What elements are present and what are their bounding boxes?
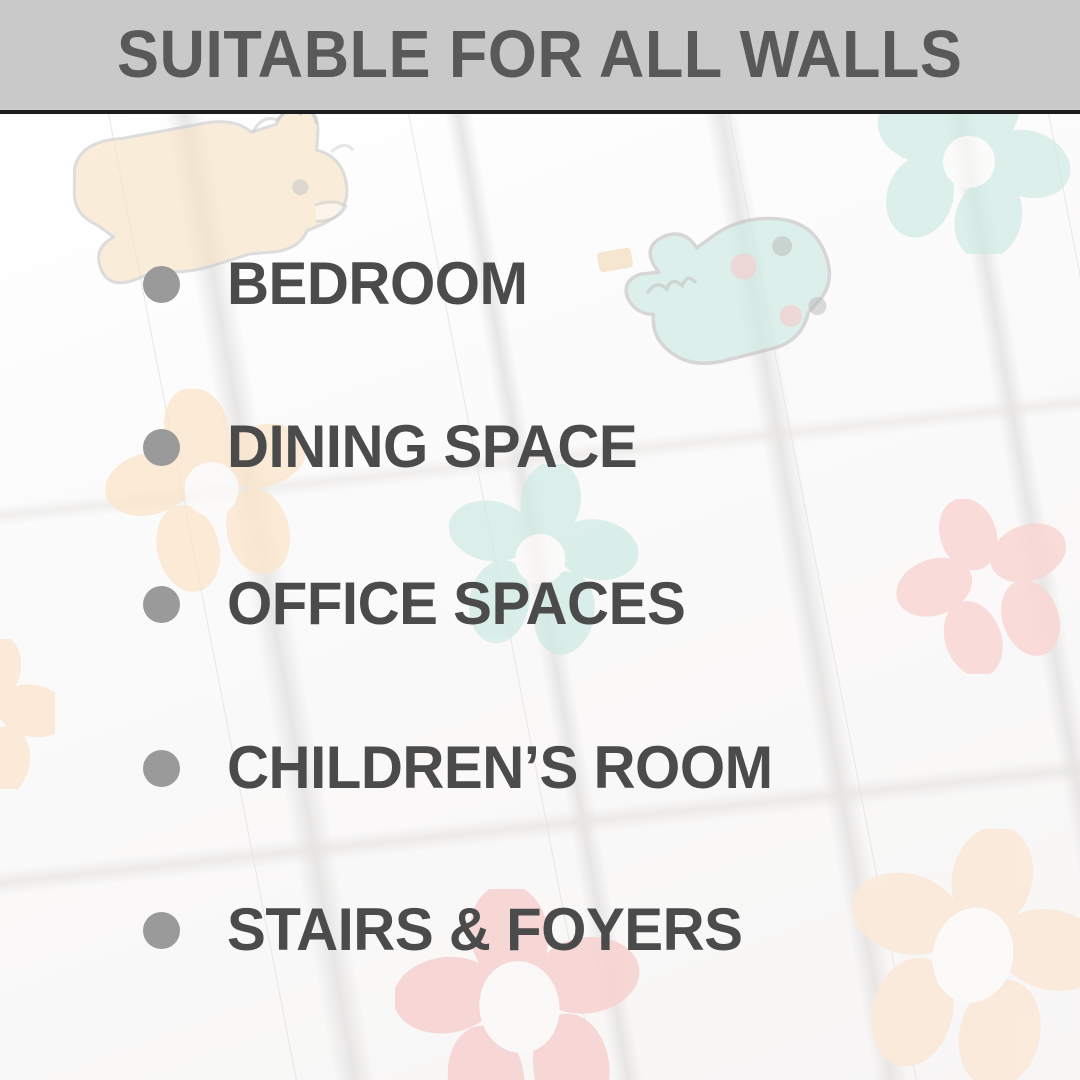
header-band: SUITABLE FOR ALL WALLS <box>0 0 1080 114</box>
list-item-label: OFFICE SPACES <box>227 574 685 634</box>
bullet-icon <box>143 586 180 623</box>
list-item: DINING SPACE <box>143 417 650 477</box>
list-item: OFFICE SPACES <box>143 574 699 634</box>
bullet-icon <box>143 429 180 466</box>
bullet-icon <box>143 912 180 949</box>
page-title: SUITABLE FOR ALL WALLS <box>117 21 962 88</box>
bullet-icon <box>143 750 180 787</box>
list-item-label: CHILDREN’S ROOM <box>227 738 773 798</box>
list-item-label: STAIRS & FOYERS <box>227 900 743 960</box>
bullet-icon <box>143 266 180 303</box>
list-item: STAIRS & FOYERS <box>143 900 758 960</box>
list-item: CHILDREN’S ROOM <box>143 738 790 798</box>
list-item-label: DINING SPACE <box>227 417 637 477</box>
list-item: BEDROOM <box>143 254 537 314</box>
suitable-for-all-walls-infographic: BEDROOM DINING SPACE OFFICE SPACES CHILD… <box>0 0 1080 1080</box>
suitable-rooms-list: BEDROOM DINING SPACE OFFICE SPACES CHILD… <box>0 114 1080 1080</box>
list-item-label: BEDROOM <box>227 254 528 314</box>
